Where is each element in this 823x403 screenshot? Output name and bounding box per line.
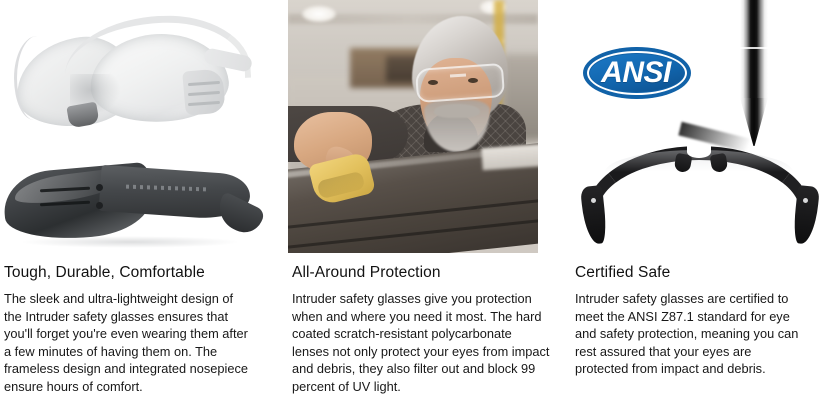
black-glasses-temple-right xyxy=(792,185,820,245)
clear-temple-arm xyxy=(63,13,251,84)
feature-column-certified-safe: ANSI Certified Safe Intr xyxy=(571,0,823,403)
ansi-logo-text: ANSI xyxy=(583,47,691,99)
clear-nosepiece xyxy=(66,102,99,129)
feature-column-all-around-protection: All-Around Protection Intruder safety gl… xyxy=(288,0,538,403)
column-1-text: Tough, Durable, Comfortable The sleek an… xyxy=(0,264,248,396)
ansi-logo: ANSI xyxy=(583,47,691,99)
smoke-hinge-dot xyxy=(96,202,103,209)
smoke-glasses-shadow xyxy=(20,236,240,248)
smoke-hinge-dot xyxy=(96,184,103,191)
column-3-text: Certified Safe Intruder safety glasses a… xyxy=(571,264,806,378)
column-1-heading: Tough, Durable, Comfortable xyxy=(4,264,248,282)
column-1-media xyxy=(0,0,275,255)
column-3-media: ANSI xyxy=(571,0,823,255)
black-glasses-bridge-notch xyxy=(687,146,711,158)
clear-safety-glasses-image xyxy=(8,8,266,133)
smoke-safety-glasses-image xyxy=(4,160,270,252)
spike-seam-highlight xyxy=(740,47,768,49)
spike-shaft xyxy=(740,0,768,100)
black-glasses-hinge-screw xyxy=(803,198,808,203)
column-1-body: The sleek and ultra-lightweight design o… xyxy=(4,290,248,396)
photo-table-surface xyxy=(481,144,538,171)
feature-column-tough-durable-comfortable: Tough, Durable, Comfortable The sleek an… xyxy=(0,0,275,403)
column-2-body: Intruder safety glasses give you protect… xyxy=(292,290,550,396)
column-2-text: All-Around Protection Intruder safety gl… xyxy=(288,264,550,396)
workshop-photo xyxy=(288,0,538,253)
black-glasses-hinge-screw xyxy=(591,198,596,203)
column-3-heading: Certified Safe xyxy=(575,264,806,282)
column-2-media xyxy=(288,0,538,255)
metal-spike-image xyxy=(732,0,776,145)
column-2-heading: All-Around Protection xyxy=(292,264,550,282)
feature-columns-page: Tough, Durable, Comfortable The sleek an… xyxy=(0,0,823,403)
column-3-body: Intruder safety glasses are certified to… xyxy=(575,290,806,378)
clear-lens-left-edge xyxy=(14,36,47,120)
photo-worker-safety-glasses xyxy=(415,63,505,103)
photo-worker-mustache xyxy=(434,104,480,118)
photo-ceiling-light xyxy=(302,6,336,22)
black-safety-glasses-image xyxy=(575,146,823,246)
